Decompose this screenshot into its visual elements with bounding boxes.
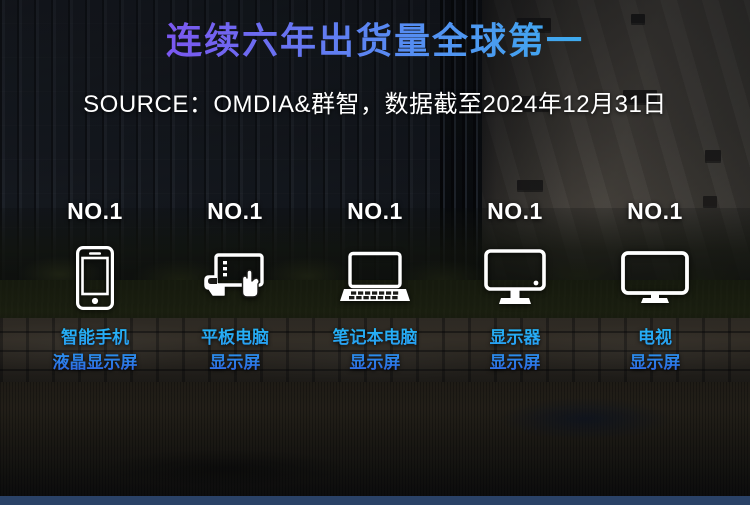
- smartphone-icon: [76, 242, 114, 314]
- caption-line-2: 显示屏: [490, 351, 541, 376]
- category-row: NO.1 智能手机 液晶显示屏 NO.1: [0, 200, 750, 390]
- headline-title: 连续六年出货量全球第一: [0, 18, 750, 63]
- caption-line-1: 平板电脑: [201, 328, 269, 347]
- caption-line-1: 智能手机: [61, 328, 129, 347]
- background-foreground-ground: [0, 382, 750, 505]
- category-caption: 平板电脑 显示屏: [201, 326, 269, 375]
- category-tv: NO.1 电视 显示屏: [586, 200, 724, 375]
- category-caption: 显示器 显示屏: [490, 326, 541, 375]
- banner-root: 连续六年出货量全球第一 SOURCE：OMDIA&群智，数据截至2024年12月…: [0, 0, 750, 505]
- category-smartphone: NO.1 智能手机 液晶显示屏: [26, 200, 164, 375]
- category-monitor: NO.1 显示器 显示屏: [446, 200, 584, 375]
- caption-line-2: 显示屏: [333, 351, 418, 376]
- caption-line-2: 液晶显示屏: [53, 351, 138, 376]
- television-icon: [621, 242, 689, 314]
- rank-label: NO.1: [347, 200, 403, 223]
- caption-line-1: 笔记本电脑: [333, 328, 418, 347]
- caption-line-1: 电视: [638, 328, 672, 347]
- caption-line-2: 显示屏: [630, 351, 681, 376]
- rank-label: NO.1: [627, 200, 683, 223]
- laptop-icon: [338, 242, 412, 314]
- tablet-touch-icon: [204, 242, 266, 314]
- rank-label: NO.1: [487, 200, 543, 223]
- category-caption: 智能手机 液晶显示屏: [53, 326, 138, 375]
- caption-line-2: 显示屏: [201, 351, 269, 376]
- rank-label: NO.1: [67, 200, 123, 223]
- source-subtitle: SOURCE：OMDIA&群智，数据截至2024年12月31日: [0, 84, 750, 119]
- category-caption: 笔记本电脑 显示屏: [333, 326, 418, 375]
- category-caption: 电视 显示屏: [630, 326, 681, 375]
- caption-line-1: 显示器: [490, 328, 541, 347]
- desktop-monitor-icon: [484, 242, 546, 314]
- category-laptop: NO.1: [306, 200, 444, 375]
- category-tablet: NO.1 平板电脑 显示屏: [166, 200, 304, 375]
- bottom-accent-bar: [0, 496, 750, 505]
- rank-label: NO.1: [207, 200, 263, 223]
